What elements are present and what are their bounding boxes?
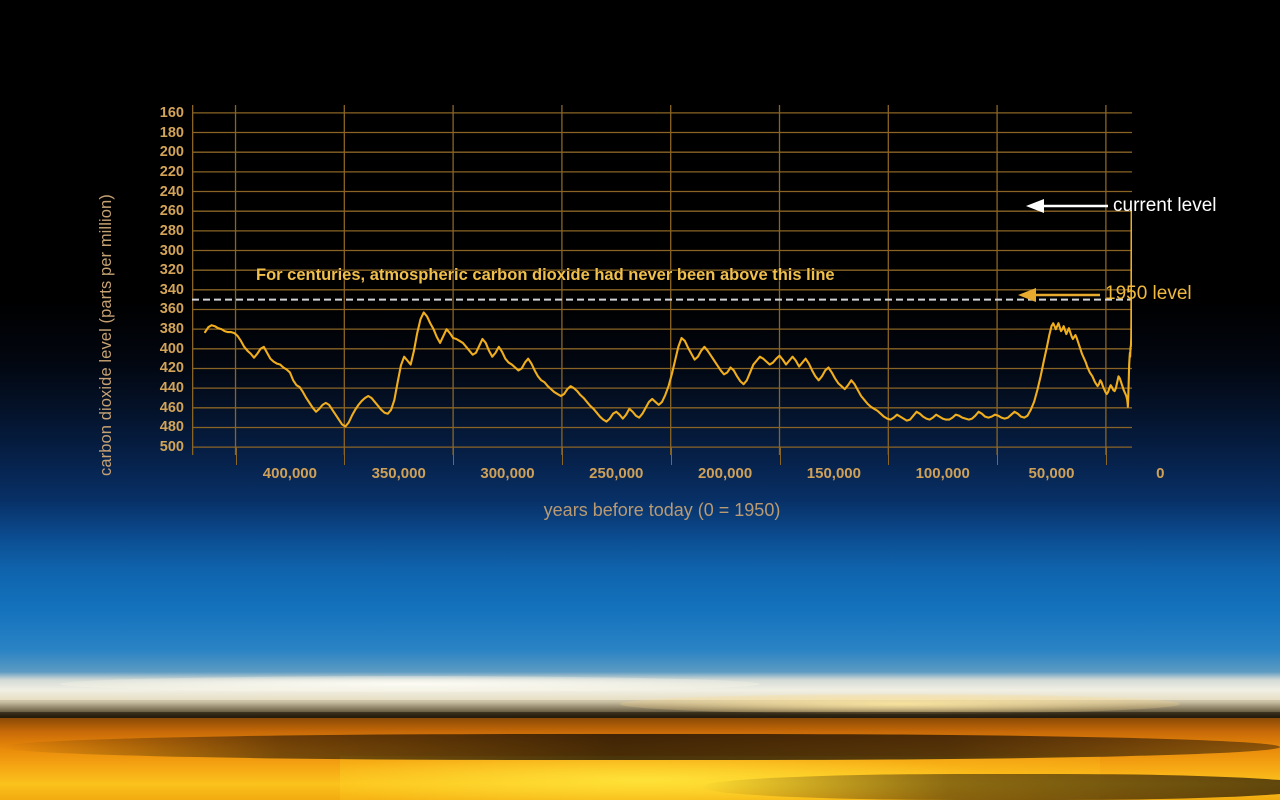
y-axis-tick-label: 240 (132, 184, 184, 200)
y-axis-tick-label: 480 (132, 419, 184, 435)
y-axis-tick-labels: 5004804604404204003803603403203002802602… (132, 96, 184, 464)
current-level-arrow-icon (1024, 196, 1110, 216)
x-axis-tick-mark (780, 447, 781, 465)
y-axis-tick-label: 160 (132, 105, 184, 121)
co2-chart: carbon dioxide level (parts per million)… (0, 0, 1280, 540)
x-axis-tick-mark (671, 447, 672, 465)
x-axis-tick-mark (997, 447, 998, 465)
x-axis-tick-mark (1106, 447, 1107, 465)
x-axis-tick-labels: 400,000350,000300,000250,000200,000150,0… (0, 465, 1280, 489)
y-axis-tick-label: 380 (132, 321, 184, 337)
y-axis-tick-label: 440 (132, 380, 184, 396)
dark-streak-one (0, 734, 1280, 760)
cloud-streak-lower (620, 694, 1180, 714)
reference-line-note: For centuries, atmospheric carbon dioxid… (256, 266, 835, 285)
dark-streak-two (700, 774, 1280, 800)
y-axis-tick-label: 260 (132, 203, 184, 219)
y-axis-tick-label: 200 (132, 144, 184, 160)
y-axis-tick-label: 400 (132, 341, 184, 357)
y-axis-tick-label: 300 (132, 243, 184, 259)
y-axis-title: carbon dioxide level (parts per million) (97, 84, 127, 476)
current-level-label: current level (1113, 195, 1217, 217)
1950-level-arrow-icon (1016, 285, 1102, 305)
y-axis-tick-label: 180 (132, 125, 184, 141)
y-axis-tick-label: 280 (132, 223, 184, 239)
1950-level-label: 1950 level (1105, 283, 1192, 305)
x-axis-tick-mark (888, 447, 889, 465)
x-axis-tick-label: 0 (1090, 465, 1230, 482)
co2-infographic: carbon dioxide level (parts per million)… (0, 0, 1280, 800)
cloud-streak-upper (60, 676, 760, 692)
y-axis-tick-label: 500 (132, 439, 184, 455)
x-axis-tick-mark (344, 447, 345, 465)
x-axis-tick-mark (453, 447, 454, 465)
y-axis-tick-label: 320 (132, 262, 184, 278)
x-axis-title: years before today (0 = 1950) (192, 500, 1132, 521)
x-axis-tick-mark (236, 447, 237, 465)
y-axis-tick-label: 220 (132, 164, 184, 180)
y-axis-tick-label: 460 (132, 400, 184, 416)
y-axis-tick-label: 360 (132, 301, 184, 317)
y-axis-tick-label: 420 (132, 360, 184, 376)
y-axis-tick-label: 340 (132, 282, 184, 298)
x-axis-tick-mark (562, 447, 563, 465)
